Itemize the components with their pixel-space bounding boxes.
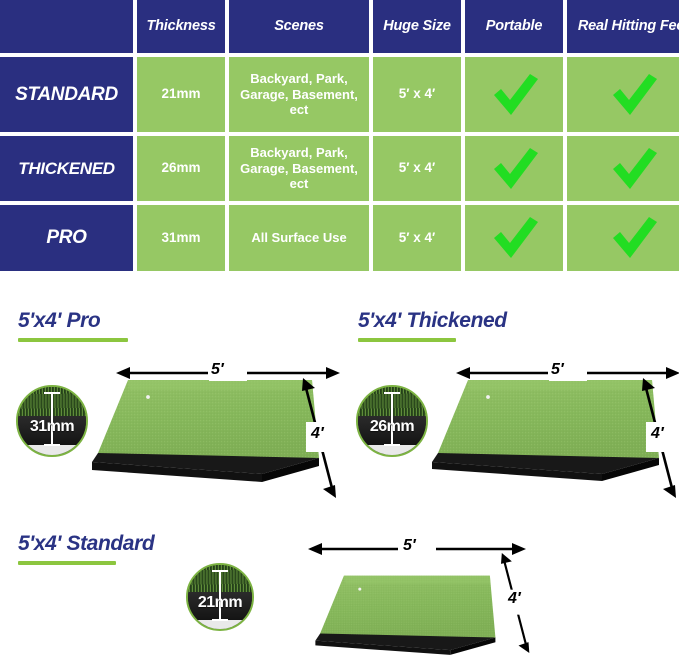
table-header-portable: Portable xyxy=(465,0,563,53)
mat-title-underline xyxy=(18,561,116,565)
width-label-standard: 5′ xyxy=(400,538,419,554)
table-cell-standard-real-hitting-feel xyxy=(567,57,679,132)
table-cell-thickened-scenes: Backyard, Park, Garage, Basement, ect xyxy=(229,136,369,201)
table-cell-standard-thickness: 21mm xyxy=(137,57,225,132)
depth-label-pro: 4′ xyxy=(308,426,327,442)
badge-measure-cap-bottom xyxy=(44,444,60,446)
thickness-badge-thickened: 26mm xyxy=(356,385,428,457)
table-row-label-standard: STANDARD xyxy=(0,57,133,132)
mat-title-underline xyxy=(18,338,128,342)
depth-label-standard: 4′ xyxy=(505,591,524,607)
badge-measure-cap-top xyxy=(44,392,60,394)
mat-title-pro: 5'x4' Pro xyxy=(18,310,338,331)
comparison-table: Thickness Scenes Huge Size Portable Real… xyxy=(0,0,679,259)
thickness-badge-pro: 31mm xyxy=(16,385,88,457)
thickness-badge-standard: 21mm xyxy=(186,563,254,631)
check-icon xyxy=(488,215,540,261)
check-icon xyxy=(607,146,659,192)
badge-measure-cap-top xyxy=(384,392,400,394)
thickness-badge-value-standard: 21mm xyxy=(188,592,252,614)
badge-measure-cap-bottom xyxy=(384,444,400,446)
mat-title-thickened: 5'x4' Thickened xyxy=(358,310,679,331)
table-cell-pro-huge-size: 5′ x 4′ xyxy=(373,205,461,271)
check-icon xyxy=(488,146,540,192)
mat-title-underline xyxy=(358,338,456,342)
table-header-real-hitting-feel: Real Hitting Feel xyxy=(567,0,679,53)
mat-panel-standard: 5'x4' Standard xyxy=(18,533,679,666)
check-icon xyxy=(607,72,659,118)
badge-measure-cap-top xyxy=(212,570,228,572)
width-label-thickened: 5′ xyxy=(548,362,567,378)
table-cell-standard-portable xyxy=(465,57,563,132)
thickness-badge-value-pro: 31mm xyxy=(18,416,86,439)
table-cell-pro-thickness: 31mm xyxy=(137,205,225,271)
badge-floor-layer xyxy=(358,445,426,455)
table-cell-thickened-thickness: 26mm xyxy=(137,136,225,201)
table-header-blank xyxy=(0,0,133,53)
badge-measure-cap-bottom xyxy=(212,619,228,621)
table-header-scenes: Scenes xyxy=(229,0,369,53)
table-header-huge-size: Huge Size xyxy=(373,0,461,53)
table-cell-pro-real-hitting-feel xyxy=(567,205,679,271)
table-row-label-thickened: THICKENED xyxy=(0,136,133,201)
table-cell-standard-scenes: Backyard, Park, Garage, Basement, ect xyxy=(229,57,369,132)
mat-figure-standard xyxy=(280,555,530,670)
table-cell-standard-huge-size: 5′ x 4′ xyxy=(373,57,461,132)
check-icon xyxy=(607,215,659,261)
depth-label-thickened: 4′ xyxy=(648,426,667,442)
width-label-pro: 5′ xyxy=(208,362,227,378)
table-cell-pro-portable xyxy=(465,205,563,271)
table-cell-thickened-real-hitting-feel xyxy=(567,136,679,201)
badge-floor-layer xyxy=(188,620,252,629)
thickness-badge-value-thickened: 26mm xyxy=(358,416,426,439)
table-header-thickness: Thickness xyxy=(137,0,225,53)
table-cell-thickened-huge-size: 5′ x 4′ xyxy=(373,136,461,201)
table-row-label-pro: PRO xyxy=(0,205,133,271)
check-icon xyxy=(488,72,540,118)
table-cell-thickened-portable xyxy=(465,136,563,201)
mat-panel-pro: 5'x4' Pro xyxy=(18,310,338,510)
badge-floor-layer xyxy=(18,445,86,455)
mat-panel-thickened: 5'x4' Thickened xyxy=(358,310,679,510)
table-cell-pro-scenes: All Surface Use xyxy=(229,205,369,271)
